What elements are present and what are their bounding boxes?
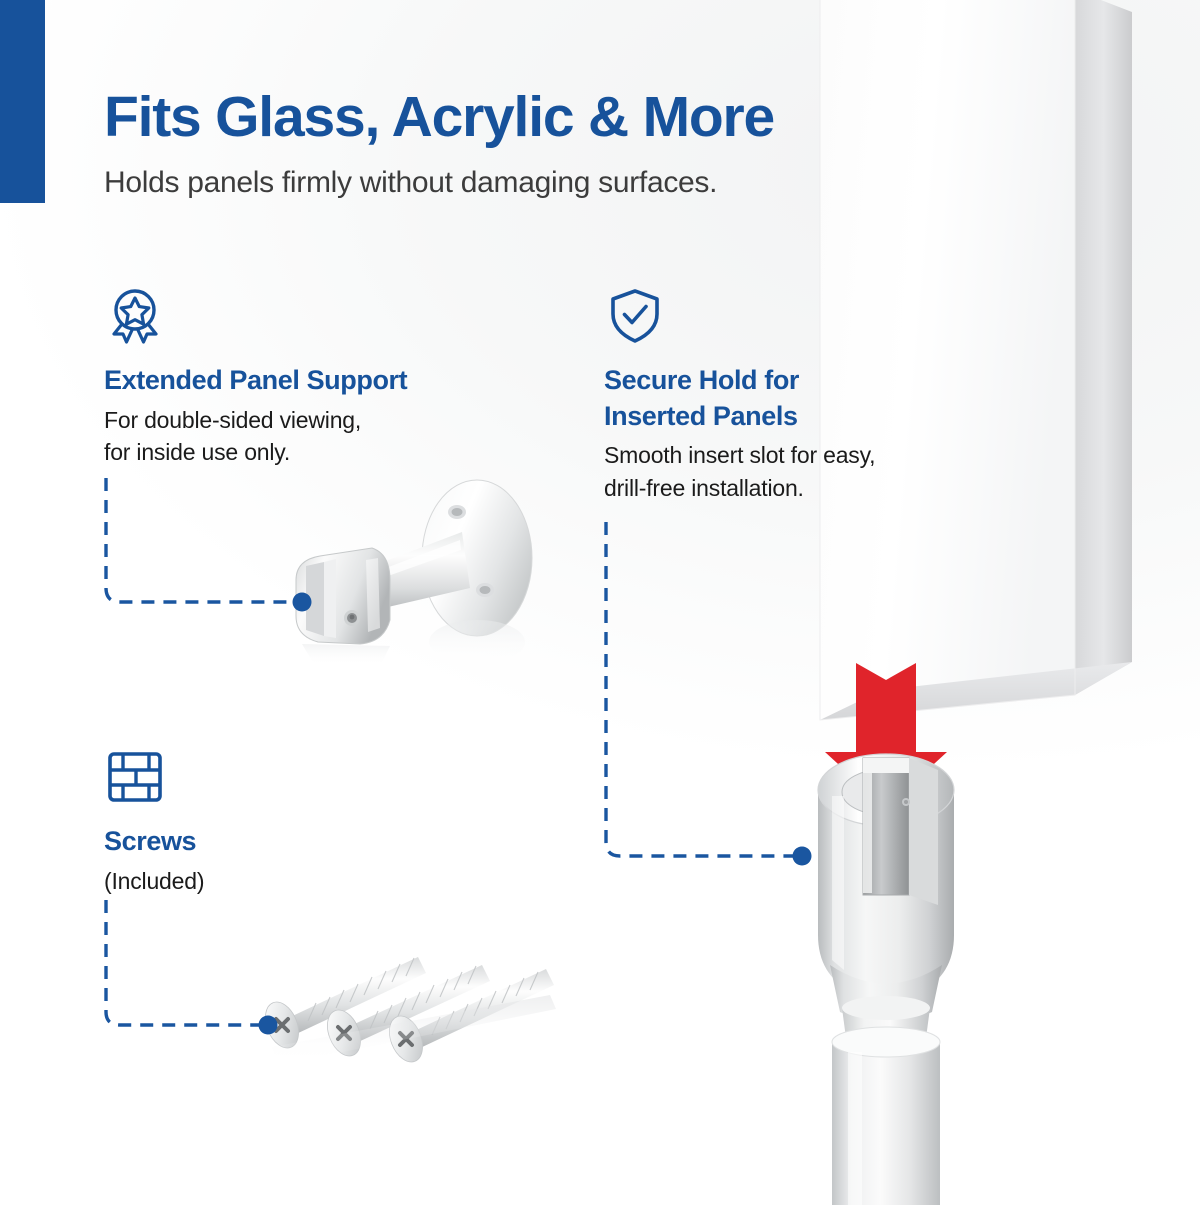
brick-wall-icon <box>104 748 166 806</box>
feature-extended-panel-support: Extended Panel Support For double-sided … <box>104 287 534 469</box>
header: Fits Glass, Acrylic & More Holds panels … <box>104 88 964 201</box>
feature-body-line: For double-sided viewing, <box>104 404 534 437</box>
feature-secure-hold: Secure Hold for Inserted Panels Smooth i… <box>604 287 964 505</box>
page-subtitle: Holds panels firmly without damaging sur… <box>104 164 964 202</box>
feature-heading: Secure Hold for Inserted Panels <box>604 363 964 434</box>
award-badge-icon <box>104 287 166 345</box>
feature-body: (Included) <box>104 865 434 898</box>
feature-heading: Extended Panel Support <box>104 363 534 399</box>
feature-body-line: (Included) <box>104 865 434 898</box>
standoff-clamp-head <box>296 548 390 644</box>
feature-body: Smooth insert slot for easy, drill-free … <box>604 439 964 504</box>
feature-body-line: Smooth insert slot for easy, <box>604 439 964 472</box>
feature-body-line: for inside use only. <box>104 436 534 469</box>
feature-body: For double-sided viewing, for inside use… <box>104 404 534 469</box>
page-title: Fits Glass, Acrylic & More <box>104 88 964 148</box>
feature-heading-line: Inserted Panels <box>604 399 964 435</box>
feature-body-line: drill-free installation. <box>604 472 964 505</box>
feature-heading: Screws <box>104 824 434 860</box>
feature-screws: Screws (Included) <box>104 748 434 897</box>
feature-heading-line: Secure Hold for <box>604 363 964 399</box>
infographic-canvas: Fits Glass, Acrylic & More Holds panels … <box>0 0 1200 1200</box>
accent-bar <box>0 0 45 203</box>
standoff-barrel <box>832 1027 940 1205</box>
shield-check-icon <box>604 287 666 345</box>
panel-clamp-product <box>818 754 954 1038</box>
wall-standoff-product <box>272 470 572 675</box>
screws-product <box>250 935 595 1080</box>
